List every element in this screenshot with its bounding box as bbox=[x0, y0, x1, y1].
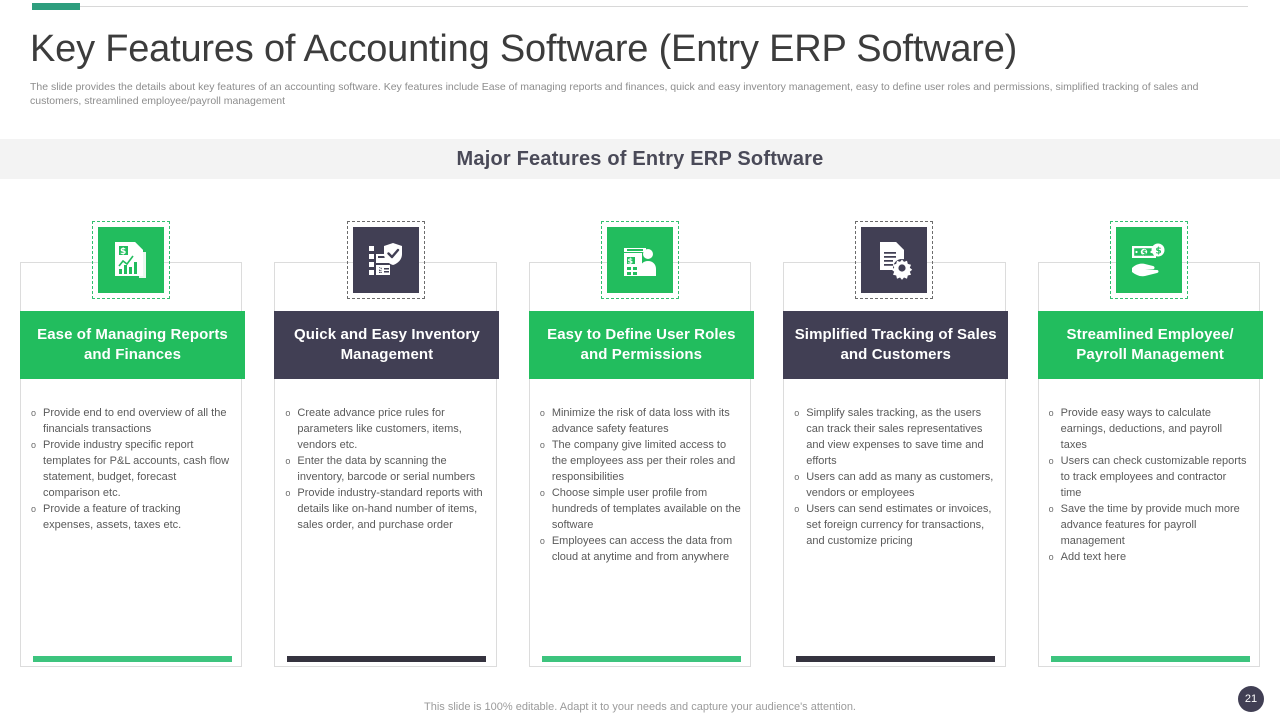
feature-card-body: oCreate advance price rules for paramete… bbox=[275, 391, 498, 533]
financial-report-icon bbox=[98, 227, 164, 293]
feature-card-title: Easy to Define User Roles and Permission… bbox=[537, 325, 746, 365]
feature-bullet-list: oProvide end to end overview of all the … bbox=[31, 405, 232, 533]
feature-bullet-list: oSimplify sales tracking, as the users c… bbox=[794, 405, 995, 549]
feature-card: Quick and Easy Inventory ManagementoCrea… bbox=[274, 262, 496, 667]
feature-bullet-item: oProvide end to end overview of all the … bbox=[31, 405, 232, 437]
user-roles-icon bbox=[607, 227, 673, 293]
feature-bullet-item: oAdd text here bbox=[1049, 549, 1250, 565]
bullet-marker-icon: o bbox=[1049, 405, 1054, 453]
bullet-text: Provide end to end overview of all the f… bbox=[43, 405, 232, 437]
feature-bullet-list: oProvide easy ways to calculate earnings… bbox=[1049, 405, 1250, 565]
bullet-text: Choose simple user profile from hundreds… bbox=[552, 485, 741, 533]
bullet-marker-icon: o bbox=[285, 453, 290, 485]
slide-root: Key Features of Accounting Software (Ent… bbox=[0, 0, 1280, 720]
bullet-marker-icon: o bbox=[285, 485, 290, 533]
feature-card-header: Easy to Define User Roles and Permission… bbox=[529, 311, 754, 379]
feature-bullet-item: oEmployees can access the data from clou… bbox=[540, 533, 741, 565]
bullet-text: Minimize the risk of data loss with its … bbox=[552, 405, 741, 437]
feature-card-body: oProvide easy ways to calculate earnings… bbox=[1039, 391, 1262, 565]
bullet-marker-icon: o bbox=[794, 405, 799, 469]
bullet-marker-icon: o bbox=[540, 485, 545, 533]
feature-card-body: oProvide end to end overview of all the … bbox=[21, 391, 244, 533]
feature-bullet-item: oMinimize the risk of data loss with its… bbox=[540, 405, 741, 437]
bullet-text: Users can send estimates or invoices, se… bbox=[806, 501, 995, 549]
feature-bullet-item: oSave the time by provide much more adva… bbox=[1049, 501, 1250, 549]
bullet-text: Provide industry specific report templat… bbox=[43, 437, 232, 501]
feature-card-header: Streamlined Employee/ Payroll Management bbox=[1038, 311, 1263, 379]
bullet-text: Save the time by provide much more advan… bbox=[1061, 501, 1250, 549]
bullet-marker-icon: o bbox=[540, 533, 545, 565]
feature-bullet-item: oUsers can add as many as customers, ven… bbox=[794, 469, 995, 501]
bullet-text: Provide a feature of tracking expenses, … bbox=[43, 501, 232, 533]
feature-icon-wrap bbox=[1110, 221, 1188, 299]
banner-title: Major Features of Entry ERP Software bbox=[457, 148, 824, 171]
bullet-marker-icon: o bbox=[540, 405, 545, 437]
feature-card-accent-bar bbox=[33, 656, 232, 662]
page-subtitle: The slide provides the details about key… bbox=[30, 80, 1210, 108]
bullet-marker-icon: o bbox=[540, 437, 545, 485]
inventory-shield-icon bbox=[353, 227, 419, 293]
feature-card-accent-bar bbox=[542, 656, 741, 662]
feature-card-body: oSimplify sales tracking, as the users c… bbox=[784, 391, 1007, 549]
bullet-text: Simplify sales tracking, as the users ca… bbox=[806, 405, 995, 469]
bullet-text: Provide easy ways to calculate earnings,… bbox=[1061, 405, 1250, 453]
feature-card-accent-bar bbox=[1051, 656, 1250, 662]
feature-card-accent-bar bbox=[796, 656, 995, 662]
feature-bullet-item: oProvide industry-standard reports with … bbox=[285, 485, 486, 533]
bullet-text: Users can add as many as customers, vend… bbox=[806, 469, 995, 501]
top-accent-bar bbox=[32, 3, 80, 10]
feature-card: Simplified Tracking of Sales and Custome… bbox=[783, 262, 1005, 667]
document-gear-icon bbox=[861, 227, 927, 293]
feature-bullet-item: oUsers can check customizable reports to… bbox=[1049, 453, 1250, 501]
bullet-marker-icon: o bbox=[285, 405, 290, 453]
bullet-marker-icon: o bbox=[794, 469, 799, 501]
bullet-marker-icon: o bbox=[794, 501, 799, 549]
feature-bullet-list: oMinimize the risk of data loss with its… bbox=[540, 405, 741, 565]
feature-card-header: Quick and Easy Inventory Management bbox=[274, 311, 499, 379]
bullet-marker-icon: o bbox=[31, 437, 36, 501]
feature-card-title: Simplified Tracking of Sales and Custome… bbox=[791, 325, 1000, 365]
feature-icon-wrap bbox=[601, 221, 679, 299]
feature-bullet-item: oEnter the data by scanning the inventor… bbox=[285, 453, 486, 485]
feature-bullet-item: oSimplify sales tracking, as the users c… bbox=[794, 405, 995, 469]
page-title: Key Features of Accounting Software (Ent… bbox=[30, 28, 1250, 71]
bullet-marker-icon: o bbox=[31, 501, 36, 533]
bullet-text: Enter the data by scanning the inventory… bbox=[297, 453, 486, 485]
feature-bullet-item: oUsers can send estimates or invoices, s… bbox=[794, 501, 995, 549]
feature-bullet-list: oCreate advance price rules for paramete… bbox=[285, 405, 486, 533]
bullet-text: Add text here bbox=[1061, 549, 1250, 565]
top-divider bbox=[32, 6, 1248, 7]
feature-card-list: Ease of Managing Reports and FinancesoPr… bbox=[20, 262, 1260, 667]
feature-icon-wrap bbox=[855, 221, 933, 299]
page-number-badge: 21 bbox=[1238, 686, 1264, 712]
feature-icon-wrap bbox=[347, 221, 425, 299]
feature-bullet-item: oThe company give limited access to the … bbox=[540, 437, 741, 485]
feature-card-title: Quick and Easy Inventory Management bbox=[282, 325, 491, 365]
feature-card: Ease of Managing Reports and FinancesoPr… bbox=[20, 262, 242, 667]
feature-bullet-item: oProvide a feature of tracking expenses,… bbox=[31, 501, 232, 533]
feature-card-header: Simplified Tracking of Sales and Custome… bbox=[783, 311, 1008, 379]
bullet-text: Employees can access the data from cloud… bbox=[552, 533, 741, 565]
bullet-marker-icon: o bbox=[1049, 501, 1054, 549]
bullet-marker-icon: o bbox=[31, 405, 36, 437]
footer-note: This slide is 100% editable. Adapt it to… bbox=[0, 701, 1280, 713]
section-banner: Major Features of Entry ERP Software bbox=[0, 139, 1280, 179]
feature-icon-wrap bbox=[92, 221, 170, 299]
feature-card-title: Streamlined Employee/ Payroll Management bbox=[1046, 325, 1255, 365]
bullet-text: The company give limited access to the e… bbox=[552, 437, 741, 485]
feature-card-header: Ease of Managing Reports and Finances bbox=[20, 311, 245, 379]
feature-bullet-item: oChoose simple user profile from hundred… bbox=[540, 485, 741, 533]
bullet-text: Provide industry-standard reports with d… bbox=[297, 485, 486, 533]
payroll-cash-hand-icon bbox=[1116, 227, 1182, 293]
bullet-marker-icon: o bbox=[1049, 549, 1054, 565]
bullet-marker-icon: o bbox=[1049, 453, 1054, 501]
feature-card: Easy to Define User Roles and Permission… bbox=[529, 262, 751, 667]
feature-card-accent-bar bbox=[287, 656, 486, 662]
feature-card: Streamlined Employee/ Payroll Management… bbox=[1038, 262, 1260, 667]
feature-card-body: oMinimize the risk of data loss with its… bbox=[530, 391, 753, 565]
feature-bullet-item: oCreate advance price rules for paramete… bbox=[285, 405, 486, 453]
feature-card-title: Ease of Managing Reports and Finances bbox=[28, 325, 237, 365]
feature-bullet-item: oProvide easy ways to calculate earnings… bbox=[1049, 405, 1250, 453]
bullet-text: Users can check customizable reports to … bbox=[1061, 453, 1250, 501]
feature-bullet-item: oProvide industry specific report templa… bbox=[31, 437, 232, 501]
bullet-text: Create advance price rules for parameter… bbox=[297, 405, 486, 453]
